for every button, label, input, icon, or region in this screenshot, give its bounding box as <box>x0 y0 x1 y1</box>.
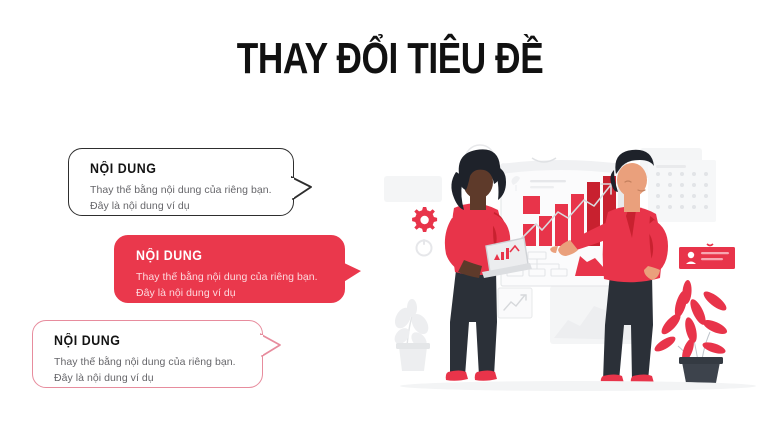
line-chart-card <box>498 288 532 318</box>
red-plant <box>652 280 729 388</box>
business-presentation-illustration <box>382 128 774 396</box>
gear-icon <box>412 207 437 232</box>
page-title: THAY ĐỔI TIÊU ĐỀ <box>78 36 702 82</box>
bubble-1-heading: NỘI DUNG <box>90 161 261 176</box>
bubble-1-tail-icon <box>291 175 313 201</box>
bubble-2-heading: NỘI DUNG <box>136 248 312 263</box>
bubble-2-body: Thay thế bằng nội dung của riêng bạn. Đâ… <box>136 270 327 302</box>
id-card-badge <box>679 244 735 269</box>
bubble-3-content: NỘI DUNG Thay thế bằng nội dung của riên… <box>54 333 245 387</box>
speech-bubble-2[interactable]: NỘI DUNG Thay thế bằng nội dung của riên… <box>114 235 345 303</box>
speech-bubble-1[interactable]: NỘI DUNG Thay thế bằng nội dung của riên… <box>68 148 294 216</box>
bubble-1-body: Thay thế bằng nội dung của riêng bạn. Đâ… <box>90 183 276 215</box>
bubble-2-content: NỘI DUNG Thay thế bằng nội dung của riên… <box>136 248 327 302</box>
bubble-1-content: NỘI DUNG Thay thế bằng nội dung của riên… <box>90 161 276 215</box>
bubble-2-tail-icon <box>342 260 362 284</box>
slide-canvas: THAY ĐỔI TIÊU ĐỀ NỘI DUNG Thay thế bằng … <box>0 0 780 439</box>
bubble-3-heading: NỘI DUNG <box>54 333 230 348</box>
bubble-3-tail-icon <box>260 332 282 358</box>
small-gear-icon <box>417 240 432 256</box>
floor-shadow <box>400 381 756 391</box>
calendar-grid-icon <box>648 160 716 222</box>
speech-bubble-3[interactable]: NỘI DUNG Thay thế bằng nội dung của riên… <box>32 320 263 388</box>
grey-plant <box>392 299 432 371</box>
bubble-3-body: Thay thế bằng nội dung của riêng bạn. Đâ… <box>54 355 245 387</box>
